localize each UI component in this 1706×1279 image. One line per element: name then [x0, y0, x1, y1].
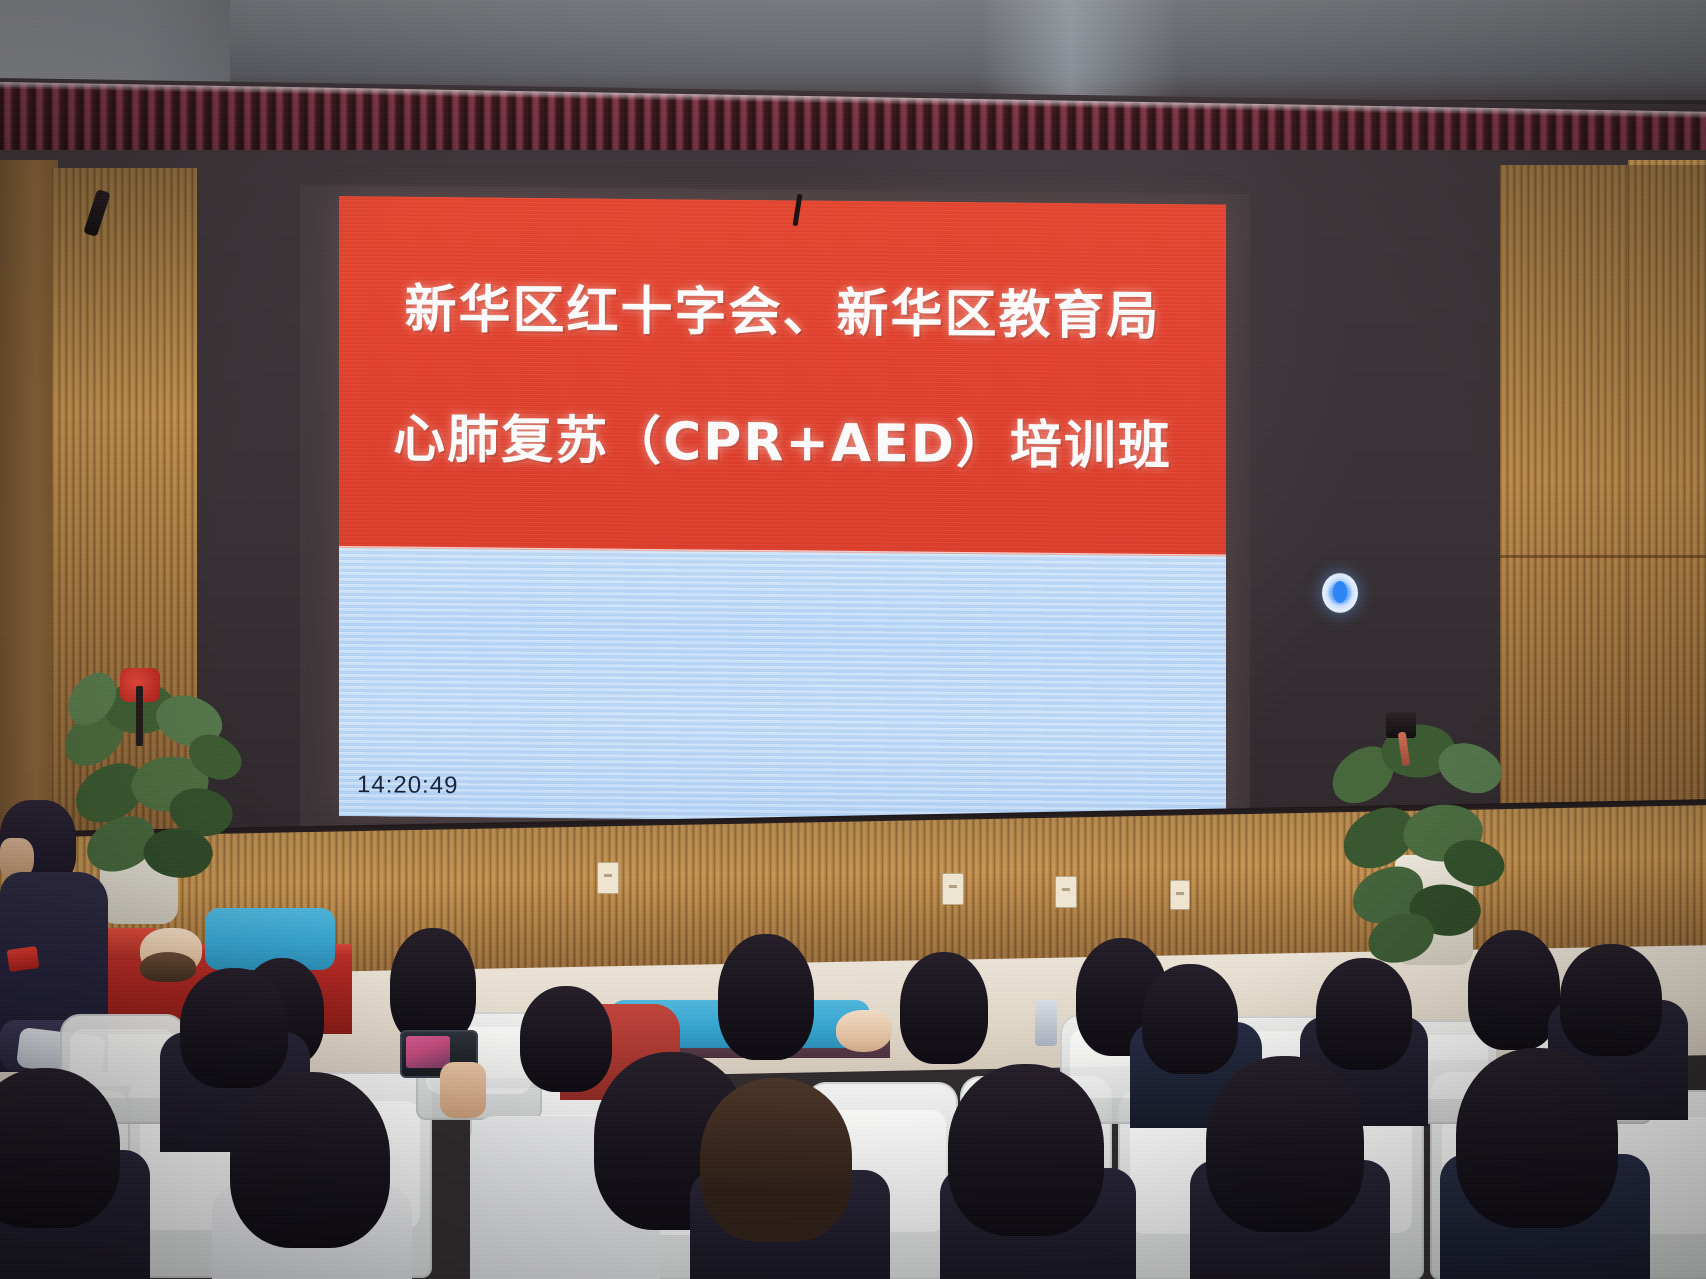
audience-member-head [718, 934, 814, 1060]
instructor-badge [7, 946, 40, 972]
audience-member-head [900, 952, 988, 1064]
wood-panel-right-shading [1500, 165, 1706, 865]
cpr-manikin-2-head [836, 1010, 892, 1052]
status-light-core [1333, 581, 1347, 603]
wall-outlet-icon [1170, 880, 1190, 910]
potted-plant-right [1320, 700, 1510, 970]
audience-member-head [948, 1064, 1104, 1236]
audience-member-head [1316, 958, 1412, 1070]
projection-screen: 新华区红十字会、新华区教育局 心肺复苏（CPR+AED）培训班 14:20:49 [339, 196, 1226, 825]
wall-outlet-icon [597, 862, 619, 894]
water-bottle [1035, 1000, 1057, 1046]
slide-banner-texture [339, 196, 1226, 557]
audience-member-hand [440, 1062, 486, 1118]
audience-member-head [390, 928, 476, 1044]
wood-panel-seam [1500, 555, 1706, 558]
audience-member-head [1456, 1048, 1618, 1228]
slide-title-line-2: 心肺复苏（CPR+AED）培训班 [339, 396, 1226, 480]
audience-member-head [1142, 964, 1238, 1074]
wall-outlet-icon [1055, 876, 1077, 908]
audience-member-head [1560, 944, 1662, 1056]
slide-body-texture [339, 548, 1226, 825]
ceiling-light-sheen [980, 0, 1180, 100]
audience-member-head [1468, 930, 1560, 1050]
auditorium-photo: 新华区红十字会、新华区教育局 心肺复苏（CPR+AED）培训班 14:20:49 [0, 0, 1706, 1279]
plant-stake [136, 686, 143, 746]
slide-title-line-1: 新华区红十字会、新华区教育局 [339, 266, 1226, 350]
slide-timestamp: 14:20:49 [357, 771, 458, 800]
audience-member-head [700, 1078, 852, 1242]
smartphone-screen [406, 1036, 450, 1068]
audience-member-head [520, 986, 612, 1092]
audience-member-head [180, 968, 288, 1088]
audience-member-head [1206, 1056, 1364, 1232]
audience-member-head [230, 1072, 390, 1248]
wood-panel-left-outer [0, 160, 58, 860]
cpr-manikin-hair [140, 952, 196, 982]
wall-outlet-icon [942, 873, 964, 905]
